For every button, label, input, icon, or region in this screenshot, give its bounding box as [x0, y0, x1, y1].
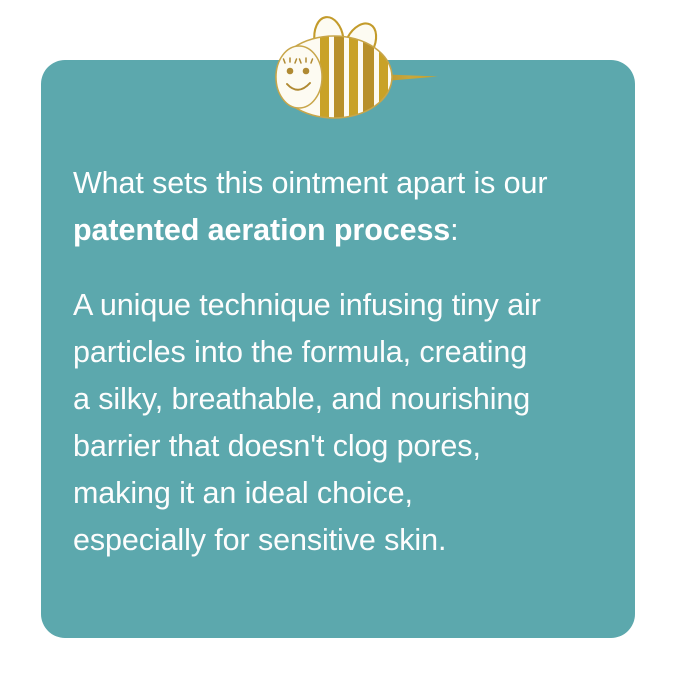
- message-text-block: What sets this ointment apart is our pat…: [73, 160, 618, 564]
- promo-graphic: What sets this ointment apart is our pat…: [0, 0, 679, 679]
- bee-mascot-icon: [262, 14, 442, 118]
- body-line: making it an ideal choice,: [73, 470, 618, 517]
- headline-emphasis: patented aeration process: [73, 213, 450, 247]
- body-line: barrier that doesn't clog pores,: [73, 423, 618, 470]
- body-line: particles into the formula, creating: [73, 329, 618, 376]
- body-line: especially for sensitive skin.: [73, 517, 618, 564]
- headline-colon: :: [450, 213, 458, 247]
- body-line: A unique technique infusing tiny air: [73, 282, 618, 329]
- bee-face-icon: [276, 46, 322, 108]
- body-line: a silky, breathable, and nourishing: [73, 376, 618, 423]
- headline-line-2: patented aeration process:: [73, 207, 618, 254]
- headline-line-1: What sets this ointment apart is our: [73, 160, 618, 207]
- paragraph-spacer: [73, 254, 618, 282]
